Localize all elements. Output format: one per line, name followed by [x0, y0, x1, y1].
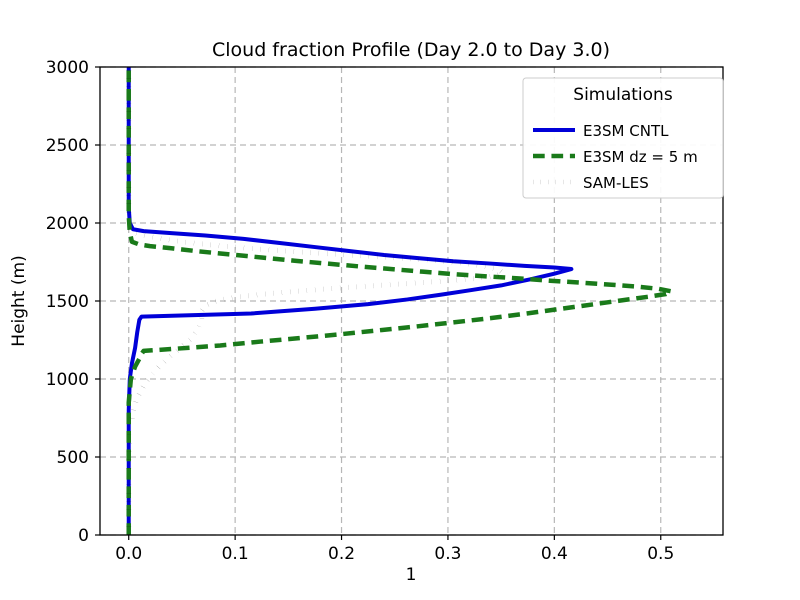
x-tick-label: 0.5 [647, 544, 674, 564]
y-tick-label: 2500 [46, 136, 89, 156]
x-tick-label: 0.1 [222, 544, 249, 564]
legend-label-3[interactable]: SAM-LES [583, 174, 649, 192]
x-tick-label: 0.4 [541, 544, 568, 564]
chart-figure: 0.00.10.20.30.40.50500100015002000250030… [0, 0, 800, 600]
legend[interactable]: SimulationsE3SM CNTLE3SM dz = 5 mSAM-LES [523, 78, 723, 198]
y-tick-label: 3000 [46, 58, 89, 78]
y-tick-label: 500 [57, 448, 89, 468]
cloud-fraction-profile-chart: 0.00.10.20.30.40.50500100015002000250030… [0, 0, 800, 600]
x-axis-title: 1 [406, 565, 417, 585]
legend-label-1[interactable]: E3SM CNTL [583, 122, 669, 140]
y-axis-title: Height (m) [9, 255, 29, 346]
x-tick-label: 0.2 [328, 544, 355, 564]
y-tick-label: 1500 [46, 292, 89, 312]
legend-label-2[interactable]: E3SM dz = 5 m [583, 148, 698, 166]
chart-title: Cloud fraction Profile (Day 2.0 to Day 3… [212, 39, 610, 61]
y-tick-label: 0 [78, 526, 89, 546]
y-tick-label: 1000 [46, 370, 89, 390]
x-tick-label: 0.0 [115, 544, 142, 564]
y-tick-label: 2000 [46, 214, 89, 234]
x-tick-label: 0.3 [434, 544, 461, 564]
legend-title: Simulations [573, 85, 673, 105]
